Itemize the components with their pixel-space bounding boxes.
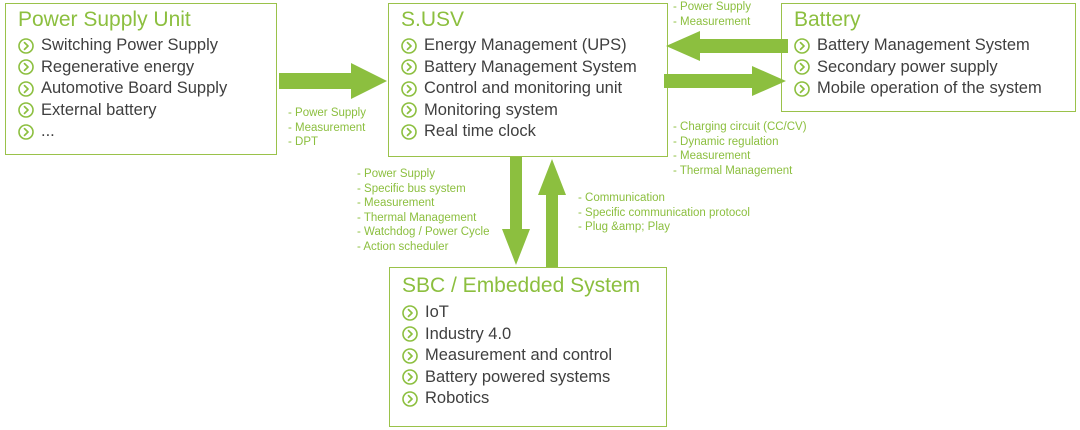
list-item: Control and monitoring unit: [401, 78, 637, 100]
list-item: Measurement and control: [402, 345, 612, 367]
note-line: - Specific communication protocol: [578, 206, 750, 221]
chevron-right-circle-icon: [402, 369, 418, 385]
box-title-power-supply-unit: Power Supply Unit: [18, 8, 191, 32]
list-item: Monitoring system: [401, 100, 637, 122]
list-item-label: Regenerative energy: [41, 57, 194, 79]
item-list-sbc: IoT Industry 4.0 Measurement and control…: [402, 302, 612, 410]
list-item-label: Battery Management System: [817, 35, 1030, 57]
note-line: - Power Supply: [673, 0, 751, 15]
diagram-canvas: Power Supply Unit Switching Power Supply…: [0, 0, 1080, 430]
note-line: - Measurement: [288, 121, 366, 136]
chevron-right-circle-icon: [18, 59, 34, 75]
list-item-label: ...: [41, 121, 55, 143]
list-item: ...: [18, 121, 227, 143]
note-line: - Measurement: [673, 149, 807, 164]
note-line: - Action scheduler: [357, 240, 490, 255]
list-item: IoT: [402, 302, 612, 324]
list-item-label: Switching Power Supply: [41, 35, 218, 57]
list-item-label: Battery powered systems: [425, 367, 610, 389]
list-item-label: Monitoring system: [424, 100, 558, 122]
note-line: - DPT: [288, 135, 366, 150]
box-title-susv: S.USV: [401, 8, 464, 32]
notes-psu-to-susv: - Power Supply - Measurement - DPT: [288, 106, 366, 150]
list-item: Battery Management System: [401, 57, 637, 79]
chevron-right-circle-icon: [794, 81, 810, 97]
notes-battery-to-susv: - Power Supply - Measurement: [673, 0, 751, 29]
note-line: - Communication: [578, 191, 750, 206]
list-item: Robotics: [402, 388, 612, 410]
list-item-label: External battery: [41, 100, 157, 122]
notes-susv-to-battery: - Charging circuit (CC/CV) - Dynamic reg…: [673, 120, 807, 178]
arrow-psu-to-susv: [279, 62, 389, 105]
list-item: Secondary power supply: [794, 57, 1042, 79]
box-title-sbc: SBC / Embedded System: [402, 274, 640, 298]
note-line: - Measurement: [357, 196, 490, 211]
note-line: - Thermal Management: [357, 211, 490, 226]
list-item: Mobile operation of the system: [794, 78, 1042, 100]
arrow-susv-to-battery: [664, 66, 788, 101]
chevron-right-circle-icon: [401, 124, 417, 140]
list-item-label: Measurement and control: [425, 345, 612, 367]
list-item: Energy Management (UPS): [401, 35, 637, 57]
note-line: - Plug &amp; Play: [578, 220, 750, 235]
list-item: Battery powered systems: [402, 367, 612, 389]
chevron-right-circle-icon: [18, 102, 34, 118]
chevron-right-circle-icon: [402, 326, 418, 342]
box-title-battery: Battery: [794, 8, 861, 32]
chevron-right-circle-icon: [401, 59, 417, 75]
list-item-label: Industry 4.0: [425, 324, 511, 346]
list-item-label: Real time clock: [424, 121, 536, 143]
chevron-right-circle-icon: [402, 305, 418, 321]
box-power-supply-unit: Power Supply Unit Switching Power Supply…: [5, 3, 277, 155]
note-line: - Power Supply: [357, 167, 490, 182]
list-item-label: Automotive Board Supply: [41, 78, 227, 100]
notes-susv-to-sbc: - Power Supply - Specific bus system - M…: [357, 167, 490, 254]
note-line: - Specific bus system: [357, 182, 490, 197]
notes-sbc-to-susv: - Communication - Specific communication…: [578, 191, 750, 235]
item-list-battery: Battery Management System Secondary powe…: [794, 35, 1042, 100]
chevron-right-circle-icon: [794, 59, 810, 75]
note-line: - Power Supply: [288, 106, 366, 121]
list-item: Regenerative energy: [18, 57, 227, 79]
arrow-susv-to-sbc: [501, 157, 531, 272]
list-item: Industry 4.0: [402, 324, 612, 346]
list-item-label: Secondary power supply: [817, 57, 998, 79]
note-line: - Dynamic regulation: [673, 135, 807, 150]
chevron-right-circle-icon: [402, 348, 418, 364]
list-item: Switching Power Supply: [18, 35, 227, 57]
list-item: Real time clock: [401, 121, 637, 143]
list-item: Battery Management System: [794, 35, 1042, 57]
chevron-right-circle-icon: [18, 124, 34, 140]
list-item: Automotive Board Supply: [18, 78, 227, 100]
chevron-right-circle-icon: [18, 81, 34, 97]
note-line: - Measurement: [673, 15, 751, 30]
chevron-right-circle-icon: [401, 102, 417, 118]
box-susv: S.USV Energy Management (UPS) Battery Ma…: [388, 3, 668, 157]
chevron-right-circle-icon: [402, 391, 418, 407]
list-item-label: Energy Management (UPS): [424, 35, 627, 57]
list-item: External battery: [18, 100, 227, 122]
list-item-label: Robotics: [425, 388, 489, 410]
chevron-right-circle-icon: [18, 38, 34, 54]
item-list-susv: Energy Management (UPS) Battery Manageme…: [401, 35, 637, 143]
note-line: - Charging circuit (CC/CV): [673, 120, 807, 135]
item-list-power-supply-unit: Switching Power Supply Regenerative ener…: [18, 35, 227, 143]
box-battery: Battery Battery Management System Second…: [781, 3, 1076, 112]
list-item-label: Mobile operation of the system: [817, 78, 1042, 100]
list-item-label: IoT: [425, 302, 449, 324]
note-line: - Thermal Management: [673, 164, 807, 179]
arrow-battery-to-susv: [664, 31, 788, 66]
chevron-right-circle-icon: [794, 38, 810, 54]
list-item-label: Control and monitoring unit: [424, 78, 622, 100]
chevron-right-circle-icon: [401, 81, 417, 97]
note-line: - Watchdog / Power Cycle: [357, 225, 490, 240]
chevron-right-circle-icon: [401, 38, 417, 54]
list-item-label: Battery Management System: [424, 57, 637, 79]
arrow-sbc-to-susv: [537, 157, 567, 272]
box-sbc-embedded-system: SBC / Embedded System IoT Industry 4.0 M…: [389, 267, 667, 427]
